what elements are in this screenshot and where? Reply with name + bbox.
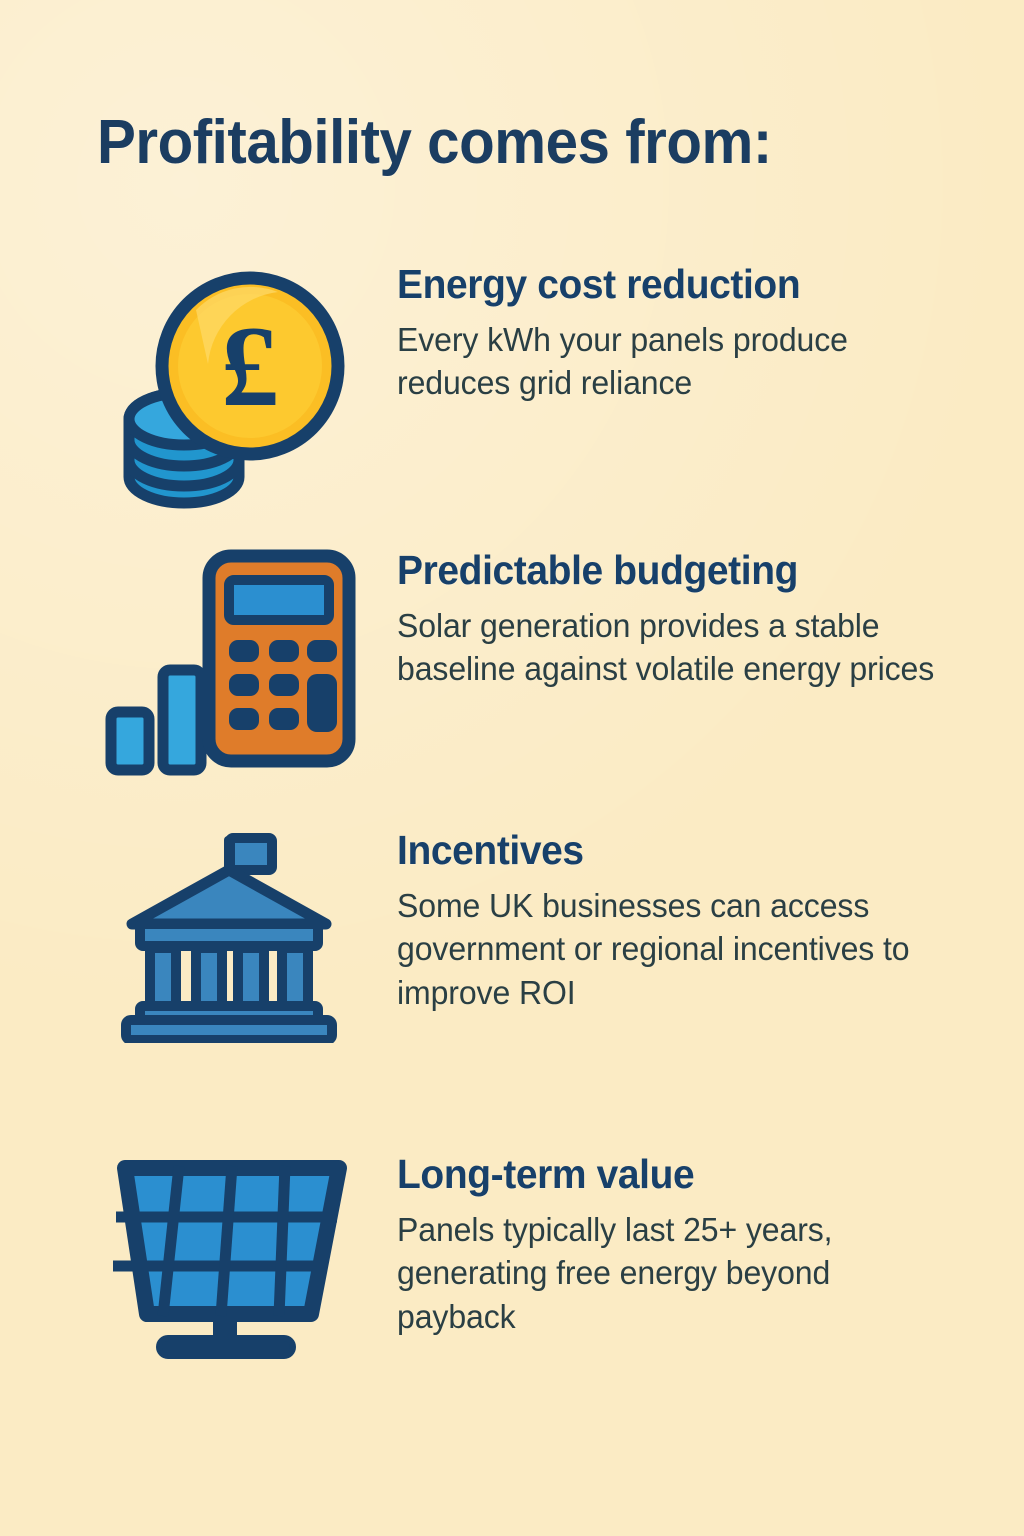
item-body: Solar generation provides a stable basel…: [397, 604, 940, 691]
item-title: Predictable budgeting: [397, 550, 941, 592]
icon-slot: £: [60, 262, 397, 512]
bank-building-icon: [114, 828, 344, 1043]
item-body: Some UK businesses can access government…: [397, 884, 940, 1015]
list-item: Predictable budgeting Solar generation p…: [60, 548, 970, 778]
list-item: £ Energy cost reduction Every kWh your p…: [60, 262, 970, 512]
list-item: Long-term value Panels typically last 25…: [60, 1152, 970, 1367]
item-text: Long-term value Panels typically last 25…: [397, 1152, 970, 1338]
icon-slot: [60, 1152, 397, 1367]
icon-slot: [60, 828, 397, 1043]
calculator-bar-chart-icon: [101, 548, 356, 778]
item-title: Long-term value: [397, 1154, 941, 1196]
item-body: Panels typically last 25+ years, generat…: [397, 1208, 940, 1339]
item-title: Energy cost reduction: [397, 264, 941, 306]
item-text: Incentives Some UK businesses can access…: [397, 828, 970, 1014]
icon-slot: [60, 548, 397, 778]
svg-text:£: £: [221, 303, 279, 431]
item-text: Predictable budgeting Solar generation p…: [397, 548, 970, 691]
page-title: Profitability comes from:: [97, 112, 772, 174]
pound-coin-stack-icon: £: [104, 262, 354, 512]
list-item: Incentives Some UK businesses can access…: [60, 828, 970, 1043]
solar-panel-icon: [101, 1152, 356, 1367]
item-text: Energy cost reduction Every kWh your pan…: [397, 262, 970, 405]
infographic-page: Profitability comes from:: [0, 0, 1024, 1536]
item-body: Every kWh your panels produce reduces gr…: [397, 318, 940, 405]
item-title: Incentives: [397, 830, 941, 872]
